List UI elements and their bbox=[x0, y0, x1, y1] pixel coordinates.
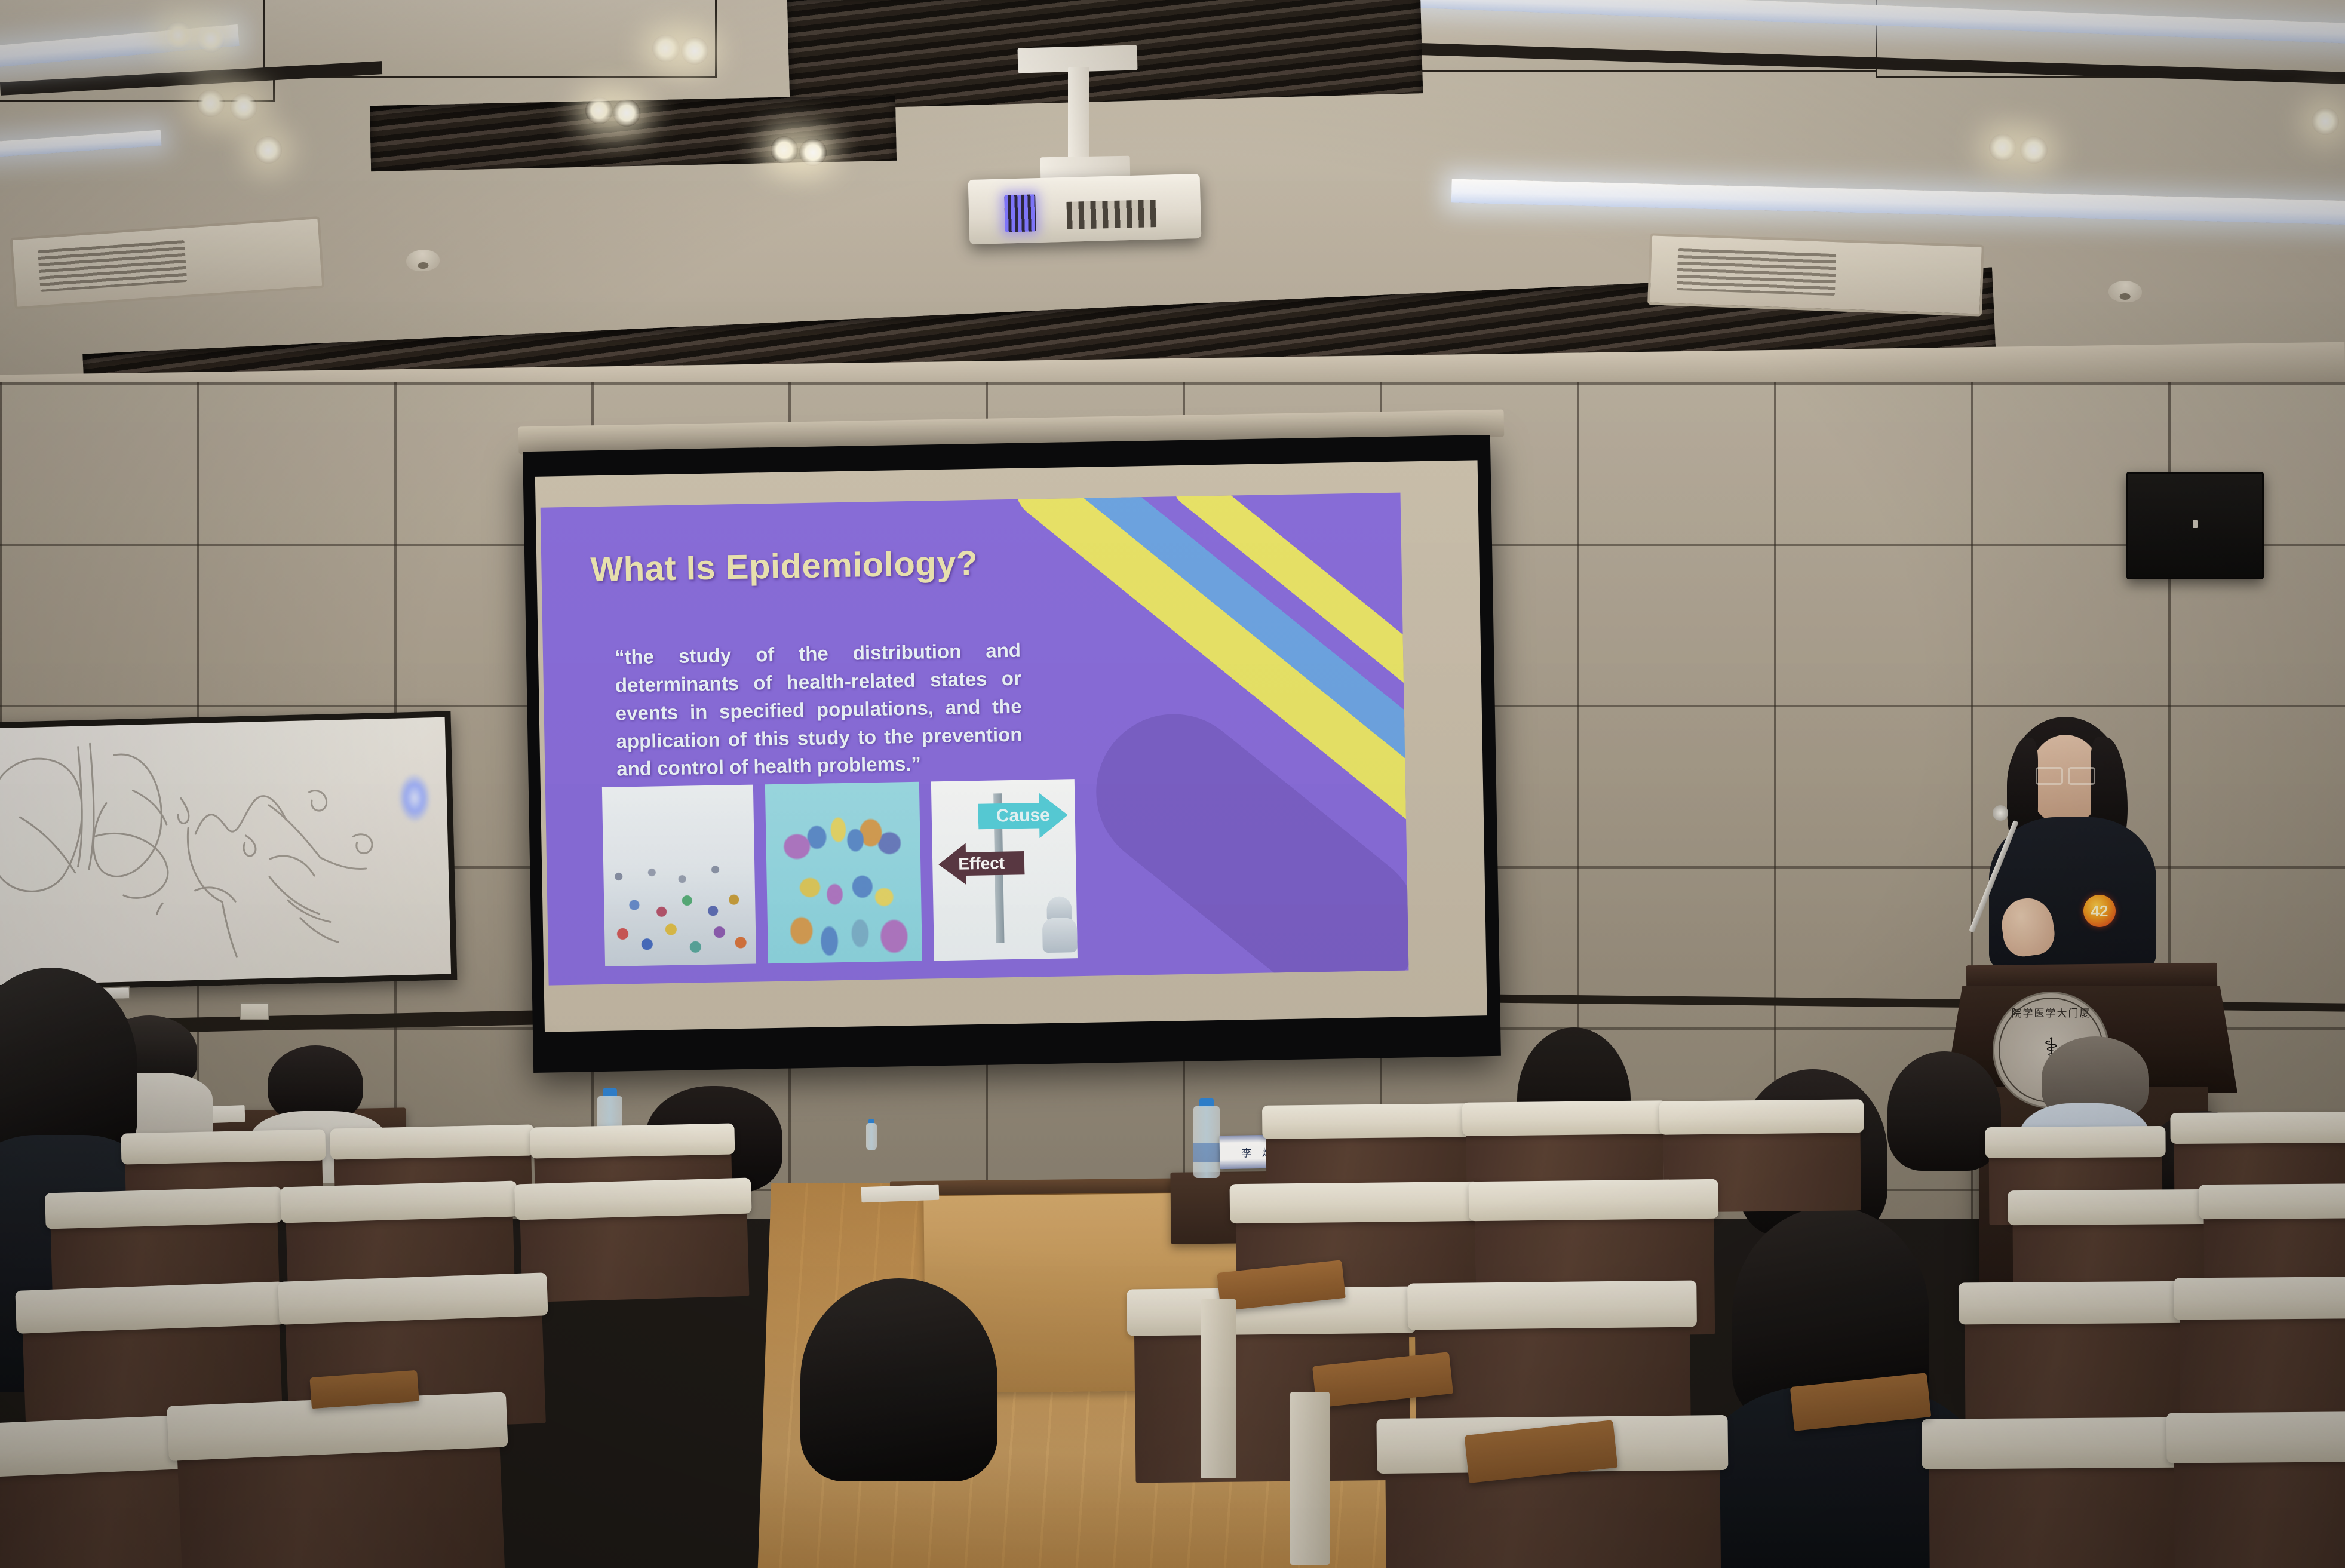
projection-screen-surface: What Is Epidemiology? “the study of the … bbox=[535, 460, 1487, 1032]
seat-top-cushion bbox=[2199, 1183, 2345, 1219]
bottle-label bbox=[1193, 1143, 1220, 1162]
seat-support-post bbox=[1290, 1392, 1330, 1565]
presenter-glasses bbox=[2036, 767, 2063, 785]
whiteboard-sketch bbox=[0, 717, 464, 997]
presenter-glasses bbox=[2068, 767, 2095, 785]
ceiling-downlight bbox=[681, 37, 708, 65]
ceiling-downlight bbox=[799, 139, 827, 166]
seat-top-cushion bbox=[1462, 1100, 1667, 1136]
slide-image-world-map bbox=[765, 782, 922, 963]
microphone-head bbox=[1993, 805, 2008, 821]
emblem-chinese-text: 院学医学大门厦 bbox=[1994, 1005, 2108, 1020]
presenter: 42 bbox=[1965, 717, 2180, 998]
ceiling-downlight bbox=[771, 136, 798, 164]
seat-top-cushion bbox=[330, 1124, 535, 1159]
auditorium-seat[interactable] bbox=[2174, 1427, 2345, 1568]
water-bottle[interactable] bbox=[866, 1123, 877, 1150]
slide-image-crowd bbox=[602, 785, 756, 966]
seat-top-cushion bbox=[280, 1181, 518, 1223]
smoke-detector bbox=[2108, 280, 2142, 303]
foreground-audience-member bbox=[788, 1278, 1027, 1568]
auditorium-seat[interactable] bbox=[520, 1189, 750, 1303]
seat-top-cushion bbox=[1469, 1179, 1719, 1221]
seat-top-cushion bbox=[1407, 1280, 1697, 1330]
seat-top-cushion bbox=[514, 1178, 752, 1220]
seat-top-cushion bbox=[1959, 1281, 2197, 1325]
presenter-badge-number: 42 bbox=[2083, 902, 2116, 920]
signpost-effect: Effect bbox=[938, 842, 1025, 886]
ceiling-downlight bbox=[254, 136, 282, 164]
seat-top-cushion bbox=[121, 1129, 326, 1164]
seat-support-post bbox=[1201, 1299, 1236, 1478]
signpost-figure-body bbox=[1042, 918, 1078, 953]
seat-top-cushion bbox=[45, 1187, 283, 1229]
slide-image-cause-effect: Cause Effect bbox=[931, 779, 1078, 961]
wall-outlet bbox=[240, 1002, 269, 1020]
slide-title: What Is Epidemiology? bbox=[590, 543, 978, 590]
seat-top-cushion bbox=[1659, 1099, 1864, 1135]
projector-vent bbox=[1004, 194, 1036, 232]
audience-hair bbox=[1887, 1051, 2001, 1171]
foreground-hair bbox=[800, 1278, 997, 1481]
ceiling-downlight bbox=[613, 99, 640, 127]
ceiling-downlight bbox=[197, 25, 225, 53]
slide-quote: “the study of the distribution and deter… bbox=[615, 637, 1023, 784]
ceiling-downlight bbox=[165, 22, 192, 49]
seat-top-cushion bbox=[2008, 1189, 2214, 1225]
seat-top-cushion bbox=[2174, 1277, 2345, 1320]
ceiling-light-strip bbox=[1451, 179, 2345, 225]
ceiling-light-strip bbox=[0, 130, 162, 158]
wall-speaker bbox=[2126, 472, 2264, 579]
ceiling-ac-unit bbox=[10, 216, 324, 309]
signpost-cause: Cause bbox=[978, 792, 1068, 839]
projection-screen-frame: What Is Epidemiology? “the study of the … bbox=[523, 435, 1501, 1073]
desk-paper bbox=[861, 1185, 940, 1203]
ceiling-downlight bbox=[230, 93, 257, 121]
ceiling-downlight bbox=[2020, 136, 2048, 164]
seat-top-cushion bbox=[1262, 1103, 1473, 1139]
seat-top-cushion bbox=[2170, 1112, 2345, 1144]
ceiling-downlight bbox=[2312, 108, 2339, 135]
bottle-body bbox=[866, 1123, 877, 1150]
seat-top-cushion bbox=[530, 1123, 735, 1158]
bottle-body bbox=[1193, 1106, 1220, 1178]
seat-top-cushion bbox=[2166, 1411, 2345, 1463]
ceiling-downlight bbox=[1989, 134, 2016, 161]
auditorium-seat[interactable] bbox=[176, 1409, 505, 1568]
seat-top-cushion bbox=[1985, 1126, 2165, 1158]
presentation-slide: What Is Epidemiology? “the study of the … bbox=[541, 493, 1409, 986]
whiteboard[interactable] bbox=[0, 711, 457, 991]
ceiling-downlight bbox=[585, 97, 613, 124]
projector-mount-pole bbox=[1068, 67, 1089, 162]
ceiling-ac-unit bbox=[1647, 233, 1984, 316]
ceiling-downlight bbox=[652, 35, 680, 62]
seat-top-cushion bbox=[1230, 1182, 1480, 1223]
smoke-detector bbox=[406, 249, 440, 272]
projector-ports bbox=[1066, 200, 1156, 229]
water-bottle[interactable] bbox=[1193, 1106, 1220, 1178]
ceiling-downlight bbox=[197, 90, 225, 117]
lecture-hall-scene: What Is Epidemiology? “the study of the … bbox=[0, 0, 2345, 1568]
